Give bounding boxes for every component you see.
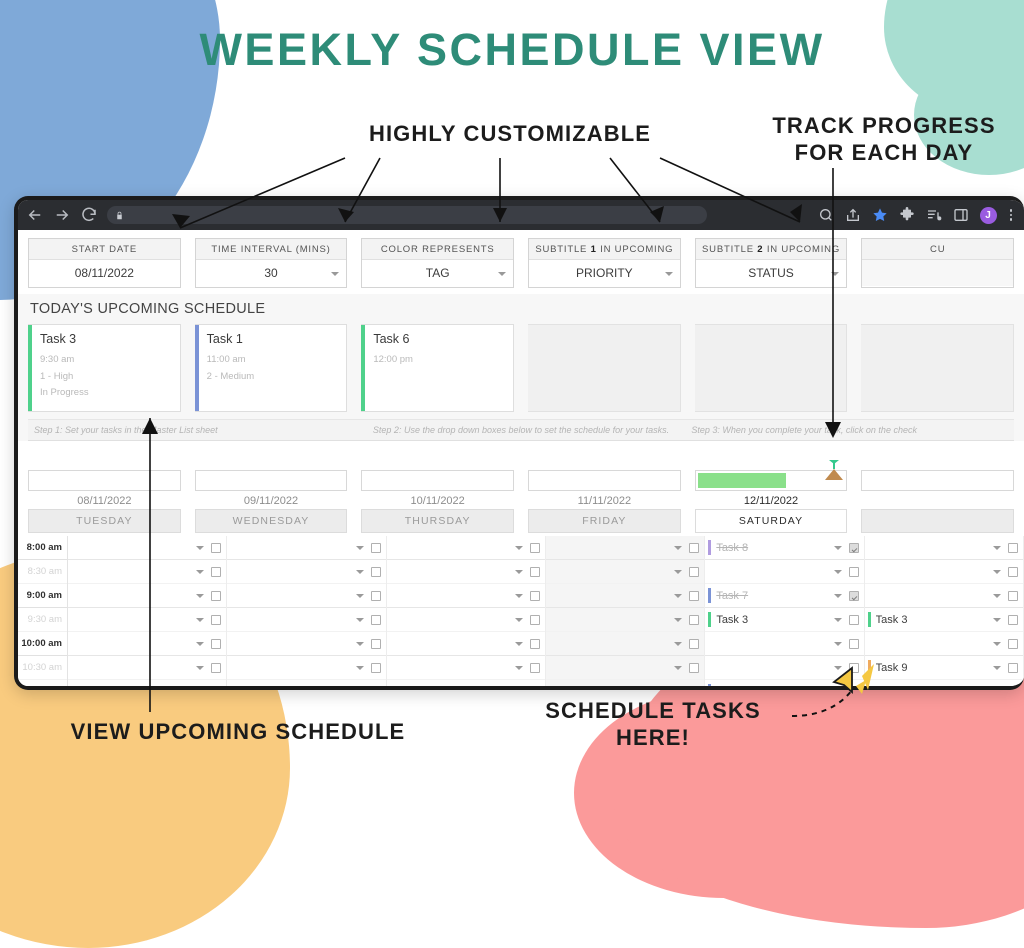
task-color-strip: [71, 660, 74, 675]
setting-label: SUBTITLE 1 IN UPCOMING: [529, 239, 680, 260]
chevron-down-icon[interactable]: [674, 666, 682, 670]
schedule-slot[interactable]: [546, 584, 704, 608]
chevron-down-icon[interactable]: [196, 690, 204, 691]
list-item[interactable]: Task 3 9:30 am 1 - High In Progress: [28, 324, 181, 412]
task-complete-checkbox[interactable]: [211, 663, 221, 673]
chevron-down-icon[interactable]: [356, 618, 364, 622]
time-axis-column: 8:00 am 8:30 am 9:00 am 9:30 am 10:00 am…: [18, 536, 68, 690]
task-complete-checkbox[interactable]: [689, 687, 699, 691]
task-priority: 2 - Medium: [207, 369, 339, 386]
task-color-strip: [390, 540, 393, 555]
setting-value[interactable]: STATUS: [696, 260, 847, 287]
task-color-strip: [868, 564, 871, 579]
step-hint-3: Step 3: When you complete your task, cli…: [685, 420, 1014, 440]
setting-label-tail: IN UPCOMING: [763, 244, 840, 255]
chevron-down-icon[interactable]: [515, 690, 523, 691]
schedule-slot[interactable]: [865, 560, 1023, 584]
schedule-slot[interactable]: [227, 632, 385, 656]
task-color-strip: [708, 540, 711, 555]
time-label: 10:00 am: [18, 632, 67, 656]
setting-label-tail: IN UPCOMING: [597, 244, 674, 255]
chevron-down-icon[interactable]: [515, 570, 523, 574]
chevron-down-icon[interactable]: [831, 272, 839, 276]
browser-toolbar-actions: J: [818, 207, 1017, 224]
task-name: Task 1: [716, 686, 833, 691]
task-complete-checkbox[interactable]: [849, 567, 859, 577]
task-color-strip: [390, 612, 393, 627]
day-column-partial: Task 3Task 9: [865, 536, 1024, 690]
task-color-strip: [868, 684, 871, 690]
day-column-thursday: [387, 536, 546, 690]
task-priority: 1 - High: [40, 369, 172, 386]
arrow-left-icon[interactable]: [26, 206, 44, 224]
chevron-down-icon[interactable]: [674, 570, 682, 574]
schedule-slot[interactable]: Task 3: [705, 608, 863, 632]
chevron-down-icon[interactable]: [196, 618, 204, 622]
chevron-down-icon[interactable]: [674, 690, 682, 691]
task-card-body: Task 6 12:00 pm: [365, 325, 513, 411]
step-hint-1: Step 1: Set your tasks in the Master Lis…: [28, 420, 357, 440]
chevron-down-icon[interactable]: [196, 546, 204, 550]
schedule-slot[interactable]: [227, 680, 385, 690]
setting-label-text: SUBTITLE: [535, 244, 590, 255]
setting-label-text: COLOR REPRESENTS: [381, 244, 495, 255]
day-label: TUESDAY: [28, 509, 181, 533]
schedule-slot[interactable]: [227, 608, 385, 632]
task-complete-checkbox[interactable]: [530, 639, 540, 649]
share-icon[interactable]: [845, 207, 861, 223]
schedule-slot[interactable]: Task 7: [705, 584, 863, 608]
schedule-slot[interactable]: [865, 632, 1023, 656]
schedule-slot[interactable]: [68, 560, 226, 584]
task-color-strip: [230, 660, 233, 675]
chevron-down-icon[interactable]: [196, 594, 204, 598]
task-name: Task 9: [876, 662, 993, 674]
task-time: 12:00 pm: [373, 352, 505, 369]
date-label: 12/11/2022: [695, 495, 848, 507]
task-color-strip: [390, 588, 393, 603]
task-complete-checkbox[interactable]: [530, 615, 540, 625]
chevron-down-icon[interactable]: [356, 666, 364, 670]
schedule-slot[interactable]: [387, 608, 545, 632]
task-complete-checkbox[interactable]: [849, 639, 859, 649]
schedule-slot[interactable]: [387, 632, 545, 656]
setting-label-text: TIME INTERVAL (MINS): [211, 244, 330, 255]
upcoming-cards: Task 3 9:30 am 1 - High In Progress Task…: [28, 324, 1014, 412]
task-color-strip: [230, 636, 233, 651]
chevron-down-icon[interactable]: [674, 546, 682, 550]
task-color-strip: [230, 564, 233, 579]
progress-bar: [861, 470, 1014, 491]
schedule-grid: 8:00 am 8:30 am 9:00 am 9:30 am 10:00 am…: [18, 536, 1024, 690]
schedule-slot[interactable]: [68, 608, 226, 632]
task-complete-checkbox[interactable]: [689, 567, 699, 577]
schedule-slot[interactable]: Task 3: [865, 608, 1023, 632]
task-time: 9:30 am: [40, 352, 172, 369]
chevron-down-icon[interactable]: [515, 642, 523, 646]
task-color-strip: [390, 660, 393, 675]
task-complete-checkbox[interactable]: [371, 615, 381, 625]
chevron-down-icon[interactable]: [834, 618, 842, 622]
task-name: Task 1: [207, 332, 339, 346]
setting-value-text: TAG: [426, 266, 450, 280]
task-color-strip: [71, 540, 74, 555]
list-item[interactable]: Task 1 11:00 am 2 - Medium: [195, 324, 348, 412]
task-color-strip: [71, 564, 74, 579]
three-dots-icon[interactable]: [1008, 209, 1015, 221]
day-columns: Task 8Task 7Task 3Task 1Task 3Task 9: [68, 536, 1024, 690]
task-color-strip: [230, 684, 233, 690]
annotation-track-progress: TRACK PROGRESS FOR EACH DAY: [744, 112, 1024, 167]
task-color-strip: [230, 540, 233, 555]
task-color-strip: [708, 636, 711, 651]
task-color-strip: [390, 636, 393, 651]
chevron-down-icon[interactable]: [834, 642, 842, 646]
time-label: 9:00 am: [18, 584, 67, 608]
task-name: Task 8: [716, 542, 833, 554]
collaborator-cursor-icon: [821, 458, 847, 484]
schedule-slot[interactable]: [387, 536, 545, 560]
chevron-down-icon[interactable]: [674, 642, 682, 646]
task-color-strip: [71, 612, 74, 627]
progress-bar: [361, 470, 514, 491]
task-complete-checkbox[interactable]: [689, 591, 699, 601]
schedule-slot[interactable]: [387, 656, 545, 680]
list-item[interactable]: [861, 324, 1014, 412]
task-complete-checkbox[interactable]: [689, 543, 699, 553]
task-complete-checkbox[interactable]: [211, 543, 221, 553]
chevron-down-icon[interactable]: [834, 594, 842, 598]
setting-label: COLOR REPRESENTS: [362, 239, 513, 260]
chevron-down-icon[interactable]: [834, 546, 842, 550]
chevron-down-icon[interactable]: [993, 690, 1001, 691]
day-label: FRIDAY: [528, 509, 681, 533]
task-color-strip: [230, 588, 233, 603]
schedule-slot[interactable]: [546, 560, 704, 584]
browser-window: J START DATE 08/11/2022 TIME INTERVAL (M…: [14, 196, 1024, 690]
schedule-slot[interactable]: [227, 656, 385, 680]
task-complete-checkbox[interactable]: [1008, 663, 1018, 673]
setting-label: START DATE: [29, 239, 180, 260]
chevron-down-icon[interactable]: [665, 272, 673, 276]
task-name: Task 3: [716, 614, 833, 626]
chevron-down-icon[interactable]: [993, 594, 1001, 598]
task-card-body: Task 3 9:30 am 1 - High In Progress: [32, 325, 180, 411]
progress-bar: [528, 470, 681, 491]
task-color-strip: [71, 588, 74, 603]
day-label: [861, 509, 1014, 533]
list-item[interactable]: [695, 324, 848, 412]
date-label: 08/11/2022: [28, 495, 181, 507]
chevron-down-icon[interactable]: [515, 594, 523, 598]
setting-subtitle-1[interactable]: SUBTITLE 1 IN UPCOMING PRIORITY: [528, 238, 681, 288]
upcoming-schedule-section: TODAY'S UPCOMING SCHEDULE Task 3 9:30 am…: [18, 294, 1024, 441]
schedule-slot[interactable]: [227, 584, 385, 608]
chevron-down-icon[interactable]: [196, 570, 204, 574]
time-label: 8:00 am: [18, 536, 67, 560]
setting-label-text: START DATE: [72, 244, 137, 255]
time-label: 10:30 am: [18, 656, 67, 680]
annotation-schedule-tasks: SCHEDULE TASKS HERE!: [522, 697, 784, 752]
schedule-slot[interactable]: [546, 632, 704, 656]
chevron-down-icon[interactable]: [993, 546, 1001, 550]
annotation-view-upcoming: VIEW UPCOMING SCHEDULE: [28, 718, 448, 745]
search-icon[interactable]: [818, 207, 834, 223]
task-name: Task 6: [373, 332, 505, 346]
task-complete-checkbox[interactable]: [211, 591, 221, 601]
chevron-down-icon[interactable]: [196, 642, 204, 646]
chevron-down-icon[interactable]: [498, 272, 506, 276]
setting-value[interactable]: TAG: [362, 260, 513, 287]
schedule-slot[interactable]: [68, 536, 226, 560]
setting-value[interactable]: 08/11/2022: [29, 260, 180, 287]
day-label: THURSDAY: [361, 509, 514, 533]
schedule-slot[interactable]: [227, 560, 385, 584]
schedule-slot[interactable]: [68, 584, 226, 608]
task-complete-checkbox[interactable]: [849, 591, 859, 601]
date-label: 11/11/2022: [528, 495, 681, 507]
setting-label-text: CU: [930, 244, 945, 255]
progress-bar: [28, 470, 181, 491]
progress-bar: [195, 470, 348, 491]
task-complete-checkbox[interactable]: [1008, 567, 1018, 577]
task-color-strip: [868, 540, 871, 555]
setting-label: CU: [862, 239, 1013, 260]
task-complete-checkbox[interactable]: [1008, 615, 1018, 625]
avatar[interactable]: J: [980, 207, 997, 224]
task-complete-checkbox[interactable]: [211, 639, 221, 649]
chevron-down-icon[interactable]: [515, 666, 523, 670]
task-complete-checkbox[interactable]: [211, 615, 221, 625]
task-name: Task 7: [716, 590, 833, 602]
spreadsheet-area: START DATE 08/11/2022 TIME INTERVAL (MIN…: [18, 230, 1024, 690]
task-color-strip: [708, 564, 711, 579]
upcoming-schedule-title: TODAY'S UPCOMING SCHEDULE: [28, 301, 1014, 324]
side-panel-icon[interactable]: [953, 207, 969, 223]
setting-value[interactable]: PRIORITY: [529, 260, 680, 287]
schedule-slot[interactable]: Task 8: [705, 536, 863, 560]
time-label: 9:30 am: [18, 608, 67, 632]
chevron-down-icon[interactable]: [196, 666, 204, 670]
task-complete-checkbox[interactable]: [371, 687, 381, 691]
task-color-strip: [390, 684, 393, 690]
schedule-slot[interactable]: [546, 608, 704, 632]
daily-progress-row: [18, 470, 1024, 491]
setting-time-interval[interactable]: TIME INTERVAL (MINS) 30: [195, 238, 348, 288]
schedule-slot[interactable]: [227, 536, 385, 560]
time-label: 11:00 am: [18, 680, 67, 690]
schedule-slot[interactable]: [387, 560, 545, 584]
browser-toolbar: J: [18, 200, 1024, 230]
day-column-friday: [546, 536, 705, 690]
task-complete-checkbox[interactable]: [530, 591, 540, 601]
date-header-row: 08/11/2022 09/11/2022 10/11/2022 11/11/2…: [18, 491, 1024, 509]
task-complete-checkbox[interactable]: [371, 591, 381, 601]
task-color-strip: [549, 612, 552, 627]
task-color-strip: [868, 660, 871, 675]
task-complete-checkbox[interactable]: [530, 567, 540, 577]
progress-fill: [698, 473, 786, 488]
schedule-slot[interactable]: [865, 536, 1023, 560]
chevron-down-icon[interactable]: [993, 618, 1001, 622]
setting-value[interactable]: [862, 260, 1013, 286]
schedule-slot[interactable]: [546, 536, 704, 560]
schedule-slot[interactable]: [68, 632, 226, 656]
star-icon[interactable]: [872, 207, 888, 223]
annotation-highly-customizable: HIGHLY CUSTOMIZABLE: [330, 120, 690, 147]
schedule-slot[interactable]: [865, 680, 1023, 690]
schedule-slot[interactable]: [546, 680, 704, 690]
setting-label: SUBTITLE 2 IN UPCOMING: [696, 239, 847, 260]
task-complete-checkbox[interactable]: [371, 639, 381, 649]
setting-start-date[interactable]: START DATE 08/11/2022: [28, 238, 181, 288]
task-color-strip: [230, 612, 233, 627]
schedule-slot[interactable]: [546, 656, 704, 680]
day-column-wednesday: [227, 536, 386, 690]
task-color-strip: [549, 564, 552, 579]
task-complete-checkbox[interactable]: [689, 663, 699, 673]
day-label: WEDNESDAY: [195, 509, 348, 533]
setting-label-text: SUBTITLE: [702, 244, 757, 255]
schedule-slot[interactable]: [705, 632, 863, 656]
date-label: 10/11/2022: [361, 495, 514, 507]
reload-icon[interactable]: [80, 206, 98, 224]
schedule-slot[interactable]: [865, 584, 1023, 608]
task-complete-checkbox[interactable]: [1008, 591, 1018, 601]
chevron-down-icon[interactable]: [993, 642, 1001, 646]
task-name: Task 3: [40, 332, 172, 346]
time-label: 8:30 am: [18, 560, 67, 584]
setting-value-text: 30: [264, 266, 277, 280]
schedule-slot[interactable]: [387, 680, 545, 690]
task-color-strip: [708, 660, 711, 675]
chevron-down-icon[interactable]: [834, 570, 842, 574]
chevron-down-icon[interactable]: [993, 570, 1001, 574]
task-complete-checkbox[interactable]: [849, 615, 859, 625]
task-color-strip: [868, 588, 871, 603]
task-color-strip: [549, 636, 552, 651]
task-time: 11:00 am: [207, 352, 339, 369]
task-complete-checkbox[interactable]: [530, 687, 540, 691]
mouse-cursor-icon: [830, 666, 858, 696]
task-complete-checkbox[interactable]: [689, 615, 699, 625]
step-hints-row: Step 1: Set your tasks in the Master Lis…: [28, 419, 1014, 441]
task-complete-checkbox[interactable]: [371, 663, 381, 673]
schedule-slot[interactable]: [68, 680, 226, 690]
day-label: SATURDAY: [695, 509, 848, 533]
setting-subtitle-2[interactable]: SUBTITLE 2 IN UPCOMING STATUS: [695, 238, 848, 288]
date-label: 09/11/2022: [195, 495, 348, 507]
task-color-strip: [549, 660, 552, 675]
task-color-strip: [708, 588, 711, 603]
address-bar[interactable]: [107, 206, 707, 224]
setting-label: TIME INTERVAL (MINS): [196, 239, 347, 260]
setting-value[interactable]: 30: [196, 260, 347, 287]
chevron-down-icon[interactable]: [356, 570, 364, 574]
setting-cutoff[interactable]: CU: [861, 238, 1014, 288]
task-complete-checkbox[interactable]: [530, 543, 540, 553]
task-status: In Progress: [40, 385, 172, 402]
spacer-row: [18, 441, 1024, 470]
task-color-strip: [708, 612, 711, 627]
task-card-body: Task 1 11:00 am 2 - Medium: [199, 325, 347, 411]
setting-value-text: PRIORITY: [576, 266, 633, 280]
chevron-down-icon[interactable]: [993, 666, 1001, 670]
task-color-strip: [868, 636, 871, 651]
chevron-down-icon[interactable]: [356, 690, 364, 691]
chevron-down-icon[interactable]: [674, 594, 682, 598]
setting-color-represents[interactable]: COLOR REPRESENTS TAG: [361, 238, 514, 288]
task-complete-checkbox[interactable]: [530, 663, 540, 673]
step-hint-2: Step 2: Use the drop down boxes below to…: [357, 420, 686, 440]
task-color-strip: [390, 564, 393, 579]
chevron-down-icon[interactable]: [356, 594, 364, 598]
task-color-strip: [868, 612, 871, 627]
page-title: WEEKLY SCHEDULE VIEW: [0, 24, 1024, 76]
reading-list-icon[interactable]: [926, 207, 942, 223]
settings-row: START DATE 08/11/2022 TIME INTERVAL (MIN…: [18, 230, 1024, 294]
arrow-right-icon[interactable]: [53, 206, 71, 224]
task-complete-checkbox[interactable]: [371, 567, 381, 577]
schedule-slot[interactable]: [705, 560, 863, 584]
setting-value-text: STATUS: [748, 266, 794, 280]
task-color-strip: [71, 684, 74, 690]
schedule-slot[interactable]: [68, 656, 226, 680]
task-color-strip: [549, 684, 552, 690]
task-complete-checkbox[interactable]: [211, 567, 221, 577]
task-color-strip: [708, 684, 711, 690]
task-complete-checkbox[interactable]: [371, 543, 381, 553]
schedule-slot[interactable]: Task 9: [865, 656, 1023, 680]
task-complete-checkbox[interactable]: [1008, 543, 1018, 553]
chevron-down-icon[interactable]: [331, 272, 339, 276]
extensions-puzzle-icon[interactable]: [899, 207, 915, 223]
task-complete-checkbox[interactable]: [849, 543, 859, 553]
date-label: [861, 495, 1014, 507]
schedule-slot[interactable]: [387, 584, 545, 608]
chevron-down-icon[interactable]: [515, 618, 523, 622]
task-complete-checkbox[interactable]: [211, 687, 221, 691]
task-name: Task 3: [876, 614, 993, 626]
chevron-down-icon[interactable]: [515, 546, 523, 550]
task-color-strip: [71, 636, 74, 651]
list-item[interactable]: Task 6 12:00 pm: [361, 324, 514, 412]
task-complete-checkbox[interactable]: [689, 639, 699, 649]
task-color-strip: [549, 588, 552, 603]
lock-icon: [115, 211, 124, 220]
chevron-down-icon[interactable]: [356, 546, 364, 550]
task-complete-checkbox[interactable]: [1008, 639, 1018, 649]
day-column-tuesday: [68, 536, 227, 690]
day-header-row: TUESDAY WEDNESDAY THURSDAY FRIDAY SATURD…: [18, 509, 1024, 533]
list-item[interactable]: [528, 324, 681, 412]
task-color-strip: [549, 540, 552, 555]
chevron-down-icon[interactable]: [674, 618, 682, 622]
chevron-down-icon[interactable]: [356, 642, 364, 646]
